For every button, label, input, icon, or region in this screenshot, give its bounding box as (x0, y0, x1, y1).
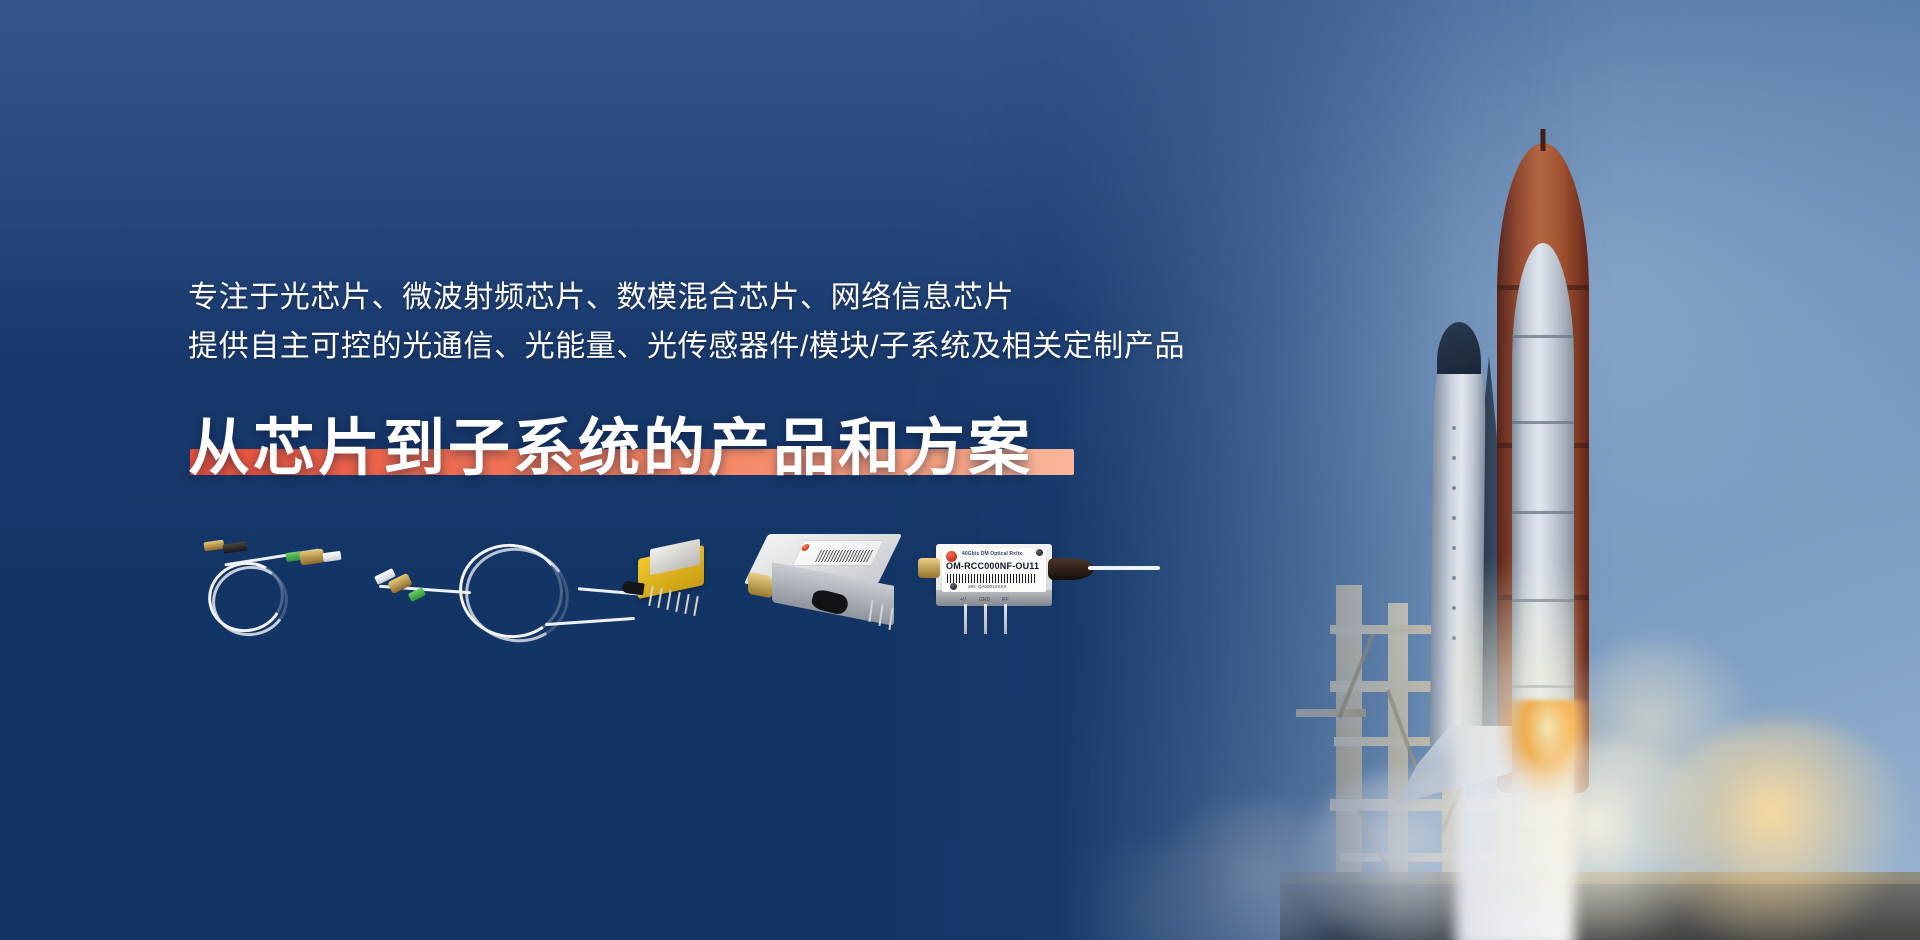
sma-connector (918, 558, 940, 578)
banner-headline: 从芯片到子系统的产品和方案 (188, 397, 1033, 487)
module-label-title: 40Gb/s DM Optical Rx/tx (962, 551, 1022, 557)
fiber-lead (1088, 566, 1160, 570)
fiber-connector-cap (322, 551, 341, 562)
barcode (815, 550, 873, 562)
module-pin-label: GND (979, 597, 990, 603)
product-fiber-pigtail-assembly-2 (375, 528, 615, 640)
module-base (936, 590, 1052, 606)
product-fiber-pigtail-assembly-1 (190, 530, 360, 640)
product-dm-optical-module: 40Gb/s DM Optical Rx/tx OM-RCC000NF-OU11… (920, 530, 1120, 630)
sma-connector (748, 572, 772, 599)
housing-screw (1036, 549, 1043, 556)
module-serial-number: S/N: QA0001XXXX (968, 584, 1007, 589)
product-butterfly-laser-chip (630, 542, 722, 620)
package-pin (666, 590, 671, 610)
module-part-number: OM-RCC000NF-OU11 (946, 561, 1039, 571)
package-pin (675, 592, 680, 612)
fiber-connector-body (299, 548, 325, 565)
module-pin (1004, 604, 1007, 634)
fiber-boot (1048, 558, 1094, 580)
housing-screw (950, 583, 957, 590)
package-pin (684, 594, 689, 614)
product-showcase-strip: 40Gb/s DM Optical Rx/tx OM-RCC000NF-OU11… (180, 520, 1060, 640)
fiber-boot (222, 541, 247, 553)
module-pin (984, 604, 987, 634)
banner-subtitle-line-1: 专注于光芯片、微波射频芯片、数模混合芯片、网络信息芯片 (188, 274, 1388, 323)
product-rf-metal-module (750, 534, 910, 626)
module-pin-label: RF (1002, 597, 1009, 603)
package-pin (693, 596, 698, 616)
barcode (947, 574, 1035, 583)
banner-subtitle-line-2: 提供自主可控的光通信、光能量、光传感器件/模块/子系统及相关定制产品 (188, 323, 1388, 372)
hero-banner: 专注于光芯片、微波射频芯片、数模混合芯片、网络信息芯片 提供自主可控的光通信、光… (0, 0, 1920, 940)
module-pin (964, 604, 967, 634)
module-pin-label: +V (960, 597, 966, 603)
banner-headline-wrapper: 从芯片到子系统的产品和方案 (188, 397, 1388, 485)
banner-text-block: 专注于光芯片、微波射频芯片、数模混合芯片、网络信息芯片 提供自主可控的光通信、光… (188, 274, 1388, 485)
fiber-connector-ferrule (203, 540, 224, 552)
